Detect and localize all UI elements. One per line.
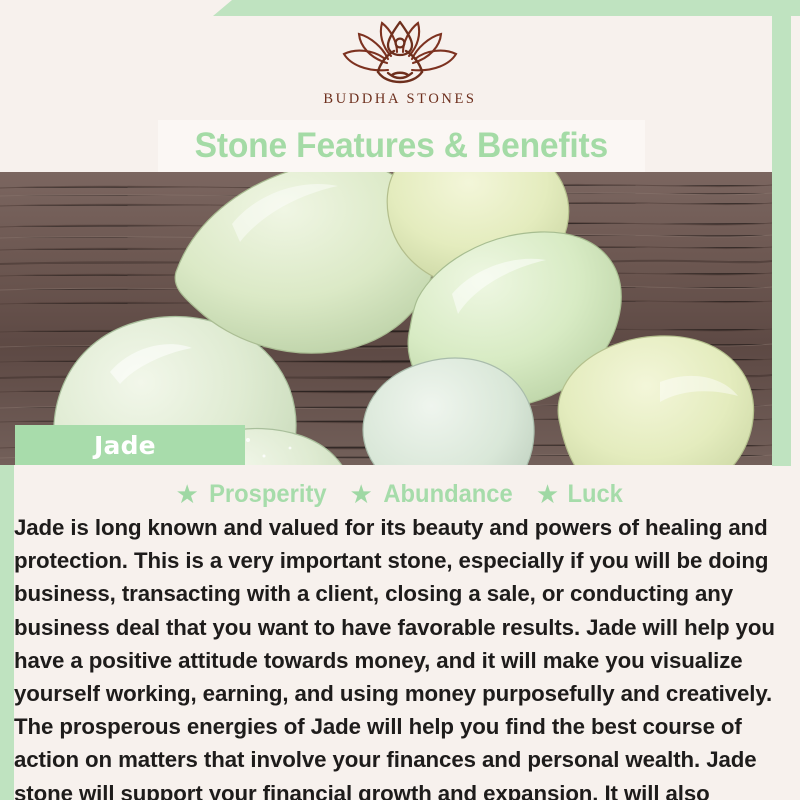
stone-photo-image [0, 172, 772, 465]
benefits-row: ★ Prosperity ★ Abundance ★ Luck [0, 478, 800, 510]
benefit-label: Prosperity [209, 480, 326, 509]
stone-photo [0, 172, 772, 465]
brand-logo: BUDDHA STONES [0, 18, 800, 118]
benefit-label: Abundance [383, 480, 512, 509]
infographic-page: BUDDHA STONES Stone Features & Benefits [0, 0, 800, 800]
benefit-item: ★ Prosperity [175, 480, 329, 509]
benefit-label: Luck [568, 480, 623, 509]
star-icon: ★ [536, 481, 559, 507]
star-icon: ★ [175, 481, 198, 507]
star-icon: ★ [349, 481, 372, 507]
brand-name: BUDDHA STONES [323, 91, 476, 108]
lotus-meditation-icon [330, 18, 470, 88]
benefit-item: ★ Abundance [349, 480, 515, 509]
benefit-item: ★ Luck [536, 480, 625, 509]
page-title-banner: Stone Features & Benefits [158, 120, 645, 172]
stone-description: Jade is long known and valued for its be… [14, 511, 780, 800]
stone-name-banner: Jade [15, 425, 245, 465]
stone-name-label: Jade [94, 431, 156, 460]
page-title: Stone Features & Benefits [195, 126, 608, 166]
frame-accent-top-right [213, 0, 800, 16]
